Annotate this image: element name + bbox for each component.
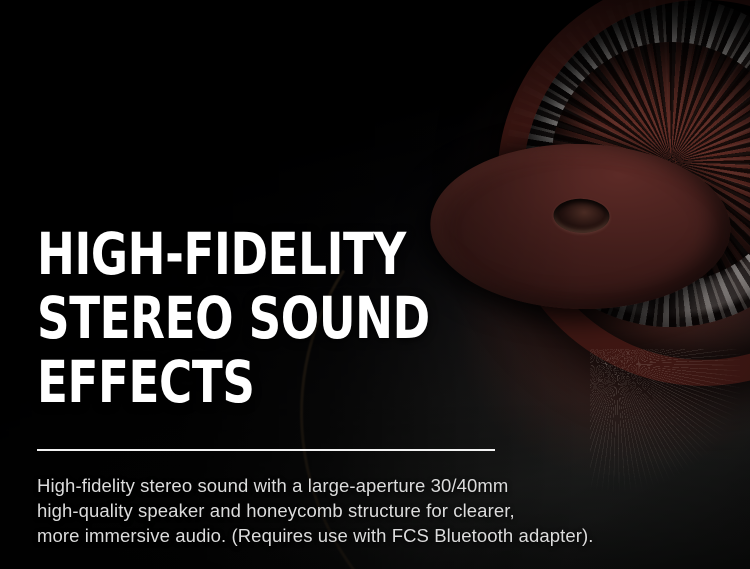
body-description: High-fidelity stereo sound with a large-…: [37, 473, 713, 548]
divider-rule: [37, 449, 495, 451]
banner-copy-block: HIGH-FIDELITY STEREO SOUND EFFECTS High-…: [37, 222, 713, 548]
product-feature-banner: HIGH-FIDELITY STEREO SOUND EFFECTS High-…: [0, 0, 750, 569]
headline: HIGH-FIDELITY STEREO SOUND EFFECTS: [37, 222, 564, 414]
